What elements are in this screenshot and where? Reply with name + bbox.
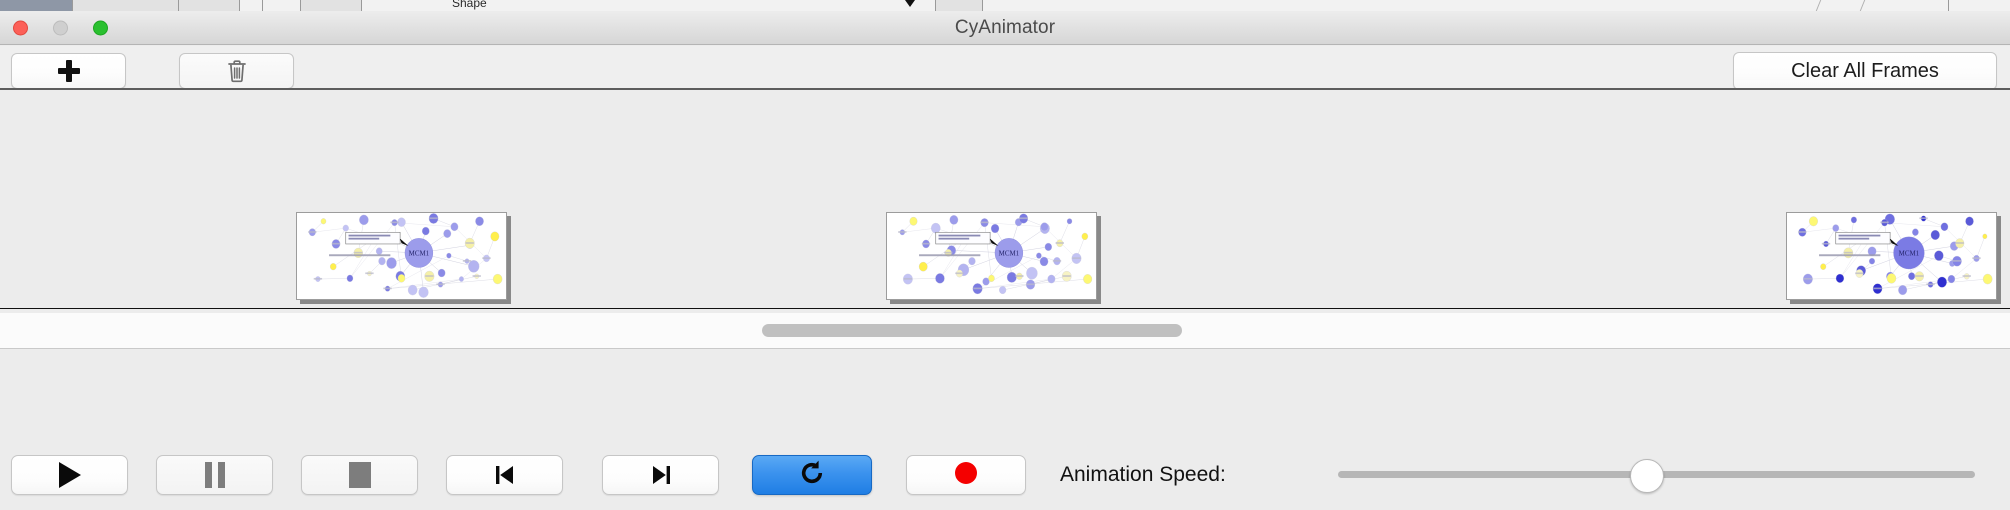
- pause-button[interactable]: [156, 455, 273, 495]
- animation-speed-slider-thumb[interactable]: [1630, 459, 1664, 493]
- animation-speed-label: Animation Speed:: [1060, 463, 1226, 487]
- add-frame-button[interactable]: [11, 53, 126, 89]
- scrollbar-thumb[interactable]: [762, 324, 1182, 337]
- svg-text:MCM1: MCM1: [1899, 251, 1920, 258]
- plus-icon: [58, 60, 80, 82]
- timeline-panel[interactable]: MCM1MCM1MCM1 12131415161718 Seconds: [0, 90, 2010, 312]
- loop-button[interactable]: [752, 455, 872, 495]
- stop-button[interactable]: [301, 455, 418, 495]
- skip-to-start-button[interactable]: [446, 455, 563, 495]
- background-window-titlebar: [0, 0, 72, 11]
- clear-all-frames-label: Clear All Frames: [1791, 60, 1939, 83]
- svg-text:MCM1: MCM1: [999, 251, 1020, 258]
- skip-forward-icon: [648, 462, 674, 488]
- record-icon: [953, 460, 979, 491]
- svg-text:MCM1: MCM1: [409, 251, 430, 258]
- stop-icon: [349, 462, 371, 488]
- skip-backward-icon: [492, 462, 518, 488]
- clear-all-frames-button[interactable]: Clear All Frames: [1733, 52, 1997, 90]
- play-icon: [59, 462, 81, 488]
- delete-frame-button[interactable]: [179, 53, 294, 89]
- play-button[interactable]: [11, 455, 128, 495]
- timeline-frame-thumbnail[interactable]: MCM1: [1786, 212, 1997, 300]
- cyanimator-window: Shape CyAnimator: [0, 0, 2010, 510]
- toolbar: Clear All Frames: [0, 46, 2010, 90]
- timeline-frame-thumbnail[interactable]: MCM1: [886, 212, 1097, 300]
- timeline-frame-thumbnail[interactable]: MCM1: [296, 212, 507, 300]
- loop-icon: [797, 458, 827, 493]
- trash-icon: [227, 59, 247, 83]
- horizontal-scrollbar[interactable]: [0, 312, 2010, 348]
- titlebar: CyAnimator: [0, 11, 2010, 45]
- record-button[interactable]: [906, 455, 1026, 495]
- pause-icon: [205, 462, 225, 488]
- skip-to-end-button[interactable]: [602, 455, 719, 495]
- background-sort-triangle-icon: [905, 0, 915, 7]
- background-window-label: Shape: [452, 0, 487, 10]
- window-title: CyAnimator: [0, 17, 2010, 39]
